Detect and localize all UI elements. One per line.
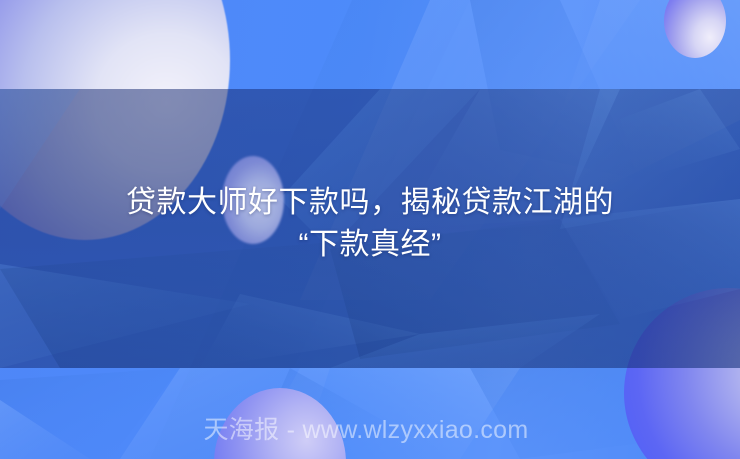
poster-title: 贷款大师好下款吗，揭秘贷款江湖的 “下款真经”: [0, 182, 740, 266]
poster-canvas: 贷款大师好下款吗，揭秘贷款江湖的 “下款真经” 天海报 - www.wlzyxx…: [0, 0, 740, 459]
site-watermark: 天海报 - www.wlzyxxiao.com: [0, 415, 740, 445]
